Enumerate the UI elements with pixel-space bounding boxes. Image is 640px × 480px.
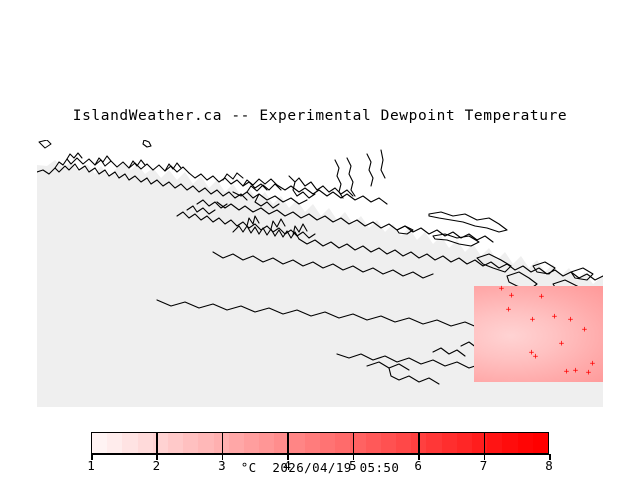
weather-map-page: IslandWeather.ca -- Experimental Dewpoin… [0,0,640,480]
station-marker [538,294,545,301]
colorbar-swatch [366,433,381,453]
colorbar-swatch [183,433,198,453]
colorbar-swatch [502,433,517,453]
colorbar-swatch [290,433,305,453]
station-marker [551,314,558,321]
station-marker [589,361,596,368]
station-marker [508,293,515,300]
colorbar-swatch [198,433,213,453]
station-marker [572,368,579,375]
colorbar-swatch [122,433,137,453]
colorbar[interactable] [91,432,549,454]
colorbar-swatch [320,433,335,453]
page-title: IslandWeather.ca -- Experimental Dewpoin… [0,108,640,124]
colorbar-swatch [92,433,107,453]
colorbar-swatch [442,433,457,453]
colorbar-swatch [396,433,411,453]
colorbar-swatch [335,433,350,453]
colorbar-swatch [487,433,502,453]
colorbar-swatch [533,433,548,453]
station-marker [563,369,570,376]
station-marker [529,317,536,324]
station-marker [581,327,588,334]
colorbar-caption: °C 2026/04/19 05:50 [0,460,640,475]
colorbar-swatch [381,433,396,453]
station-marker [498,286,505,293]
colorbar-swatch [138,433,153,453]
colorbar-swatch [457,433,472,453]
colorbar-swatch [244,433,259,453]
colorbar-swatch [305,433,320,453]
station-marker [567,317,574,324]
colorbar-divider [156,432,158,454]
colorbar-divider [287,432,289,454]
colorbar-gradient [91,432,549,454]
colorbar-divider [222,432,224,454]
colorbar-swatch [153,433,168,453]
colorbar-swatch [259,433,274,453]
colorbar-swatch [518,433,533,453]
station-marker [505,307,512,314]
station-marker [558,341,565,348]
colorbar-divider [418,432,420,454]
colorbar-divider [484,432,486,454]
colorbar-swatch [229,433,244,453]
colorbar-swatch [168,433,183,453]
colorbar-divider [353,432,355,454]
colorbar-swatch [426,433,441,453]
station-marker [532,354,539,361]
colorbar-swatch [107,433,122,453]
map-panel[interactable] [37,140,603,407]
station-marker [585,370,592,377]
